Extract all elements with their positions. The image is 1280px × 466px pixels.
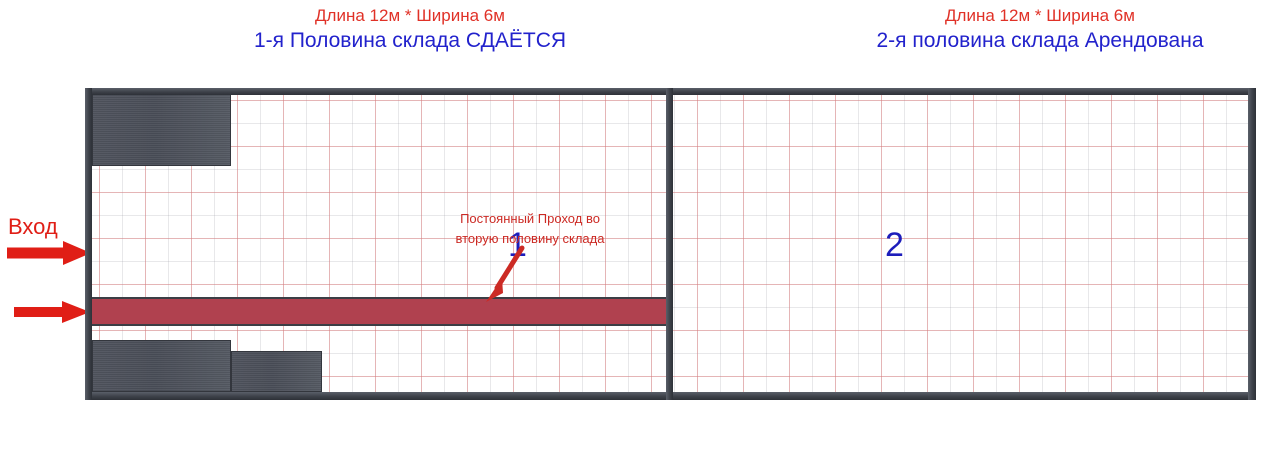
entrance-arrow-lower-icon	[12, 298, 94, 326]
caption-right-half: Длина 12м * Ширина 6м 2-я половина склад…	[760, 5, 1280, 54]
wall-left	[85, 88, 92, 400]
warehouse-outline: 1 2	[85, 88, 1256, 400]
caption-right-dimensions: Длина 12м * Ширина 6м	[760, 5, 1280, 27]
passage-annotation-line-1: Постоянный Проход во	[420, 209, 640, 229]
passage-annotation: Постоянный Проход во вторую половину скл…	[420, 209, 640, 249]
caption-left-half: Длина 12м * Ширина 6м 1-я Половина склад…	[160, 5, 660, 54]
storage-block-bottom-left	[92, 340, 231, 392]
wall-right	[1248, 88, 1256, 400]
storage-block-bottom-middle	[231, 351, 322, 392]
storage-block-top-left	[92, 93, 231, 166]
caption-left-status: 1-я Половина склада СДАЁТСЯ	[160, 27, 660, 54]
caption-left-dimensions: Длина 12м * Ширина 6м	[160, 5, 660, 27]
warehouse-floor-plan: Длина 12м * Ширина 6м 1-я Половина склад…	[0, 0, 1280, 466]
entrance-arrow-upper-icon	[5, 238, 95, 268]
entrance-label: Вход	[8, 214, 58, 240]
passage-annotation-arrow-icon	[470, 244, 540, 306]
permanent-passage-corridor	[92, 297, 666, 326]
wall-divider-between-halves	[666, 88, 673, 400]
zone-number-2: 2	[885, 228, 904, 262]
caption-right-status: 2-я половина склада Арендована	[760, 27, 1280, 54]
